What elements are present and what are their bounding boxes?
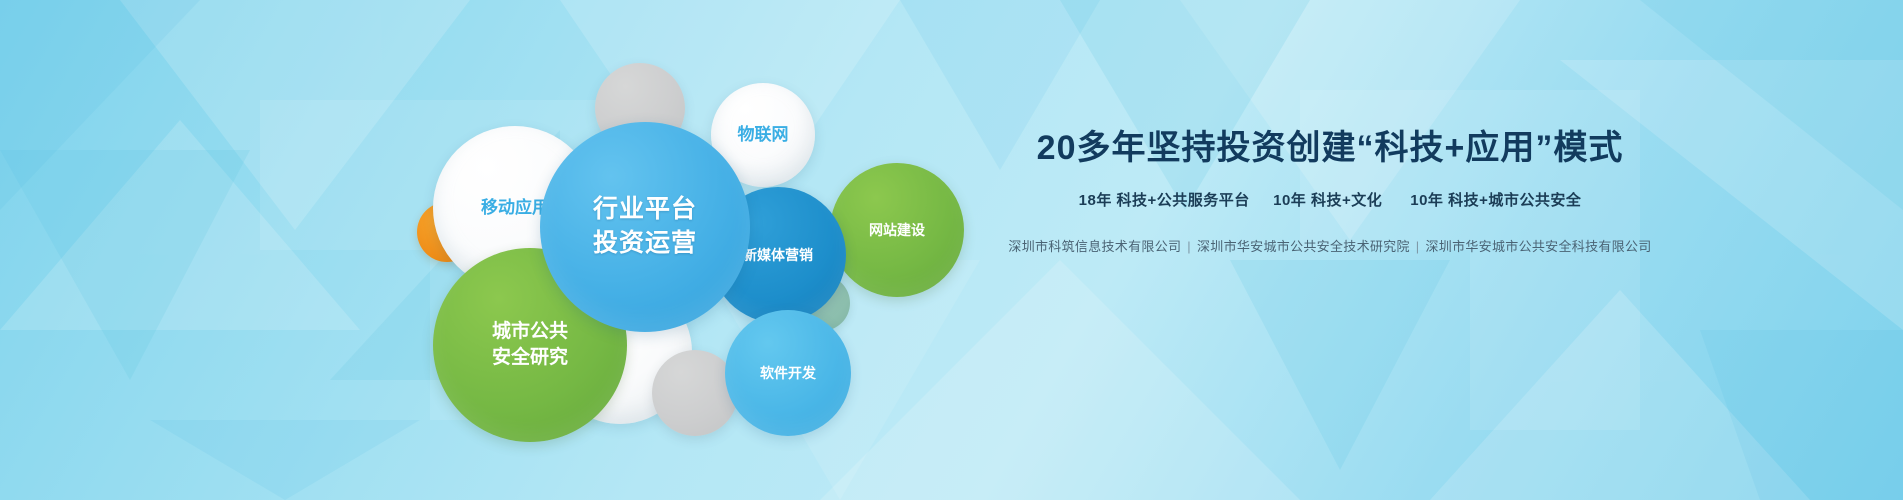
organization-name: 深圳市科筑信息技术有限公司 [1008,239,1181,254]
bubble-label-city-public-safety: 城市公共 安全研究 [433,319,627,370]
bubble-software-dev[interactable]: 软件开发 [725,310,851,436]
organization-separator: | [1410,239,1426,254]
promo-banner: 移动应用 物联网 网站建设 新媒体营销 软件开发 城市公共 安全研究 行业平台 … [0,0,1903,500]
bubble-industry-platform[interactable]: 行业平台 投资运营 [540,122,750,332]
bubble-label-iot: 物联网 [711,124,815,147]
bubble-label-industry-platform: 行业平台 投资运营 [540,193,750,261]
banner-headline: 20多年坚持投资创建“科技+应用”模式 [830,120,1830,169]
banner-copy: 20多年坚持投资创建“科技+应用”模式 18年 科技+公共服务平台 10年 科技… [830,120,1830,255]
organization-name: 深圳市华安城市公共安全科技有限公司 [1425,239,1651,254]
banner-organization-line: 深圳市科筑信息技术有限公司|深圳市华安城市公共安全技术研究院|深圳市华安城市公共… [830,236,1830,255]
banner-subline: 18年 科技+公共服务平台 10年 科技+文化 10年 科技+城市公共安全 [830,189,1830,210]
organization-separator: | [1181,239,1197,254]
organization-name: 深圳市华安城市公共安全技术研究院 [1197,239,1410,254]
bubble-label-software-dev: 软件开发 [725,364,851,383]
